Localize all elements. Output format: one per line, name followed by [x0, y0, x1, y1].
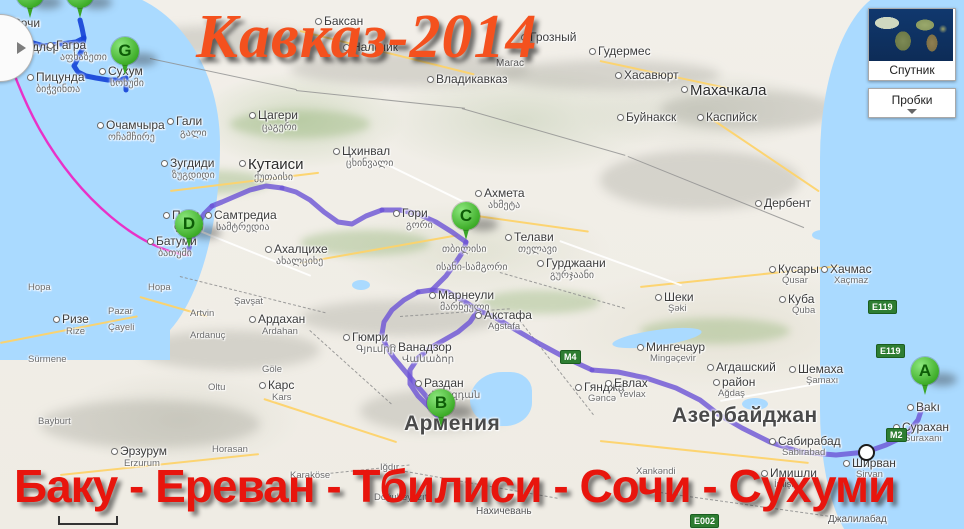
place-dot-icon: [427, 76, 434, 83]
scale-bar: [58, 516, 118, 525]
place-dot-icon: [907, 404, 914, 411]
place-dot-icon: [475, 312, 482, 319]
route-shirvan-west: [718, 414, 866, 455]
marker-letter: C: [452, 202, 480, 230]
place-dot-icon: [147, 238, 154, 245]
satellite-toggle-button[interactable]: Спутник: [868, 8, 956, 81]
place-dot-icon: [707, 364, 714, 371]
route-marneuli-vanadzor: [382, 292, 418, 346]
place-dot-icon: [205, 212, 212, 219]
place-dot-icon: [53, 316, 60, 323]
map-marker-g[interactable]: G: [111, 37, 139, 77]
place-dot-icon: [239, 160, 246, 167]
place-dot-icon: [655, 294, 662, 301]
place-dot-icon: [769, 266, 776, 273]
marker-letter: G: [111, 37, 139, 65]
chevron-down-icon[interactable]: [907, 109, 917, 114]
place-dot-icon: [537, 260, 544, 267]
road-shield: M4: [560, 350, 581, 364]
marker-letter: A: [911, 357, 939, 385]
place-dot-icon: [605, 380, 612, 387]
route-gagra-north: [80, 20, 84, 38]
place-dot-icon: [637, 344, 644, 351]
overlay-caption: Баку - Ереван - Тбилиси - Сочи - Сухуми: [14, 459, 895, 513]
place-dot-icon: [47, 42, 54, 49]
marker-letter: B: [427, 389, 455, 417]
place-dot-icon: [259, 382, 266, 389]
place-dot-icon: [755, 200, 762, 207]
place-dot-icon: [617, 114, 624, 121]
satellite-thumbnail-icon: [869, 9, 953, 61]
route-az-central: [592, 370, 718, 414]
map-marker-b[interactable]: B: [427, 389, 455, 429]
place-dot-icon: [249, 112, 256, 119]
road-shield: M2: [886, 428, 907, 442]
place-dot-icon: [575, 384, 582, 391]
route-kutaisi-samtredia: [212, 186, 282, 206]
map-marker-h[interactable]: H: [16, 0, 44, 20]
marker-letter: D: [175, 210, 203, 238]
map-marker-a[interactable]: A: [911, 357, 939, 397]
place-dot-icon: [163, 212, 170, 219]
map-marker-f[interactable]: F: [66, 0, 94, 20]
place-dot-icon: [429, 292, 436, 299]
traffic-label: Пробки: [869, 89, 955, 107]
road-shield: E119: [868, 300, 897, 314]
route-adler-gagra: [30, 38, 84, 46]
place-dot-icon: [779, 296, 786, 303]
place-dot-icon: [821, 266, 828, 273]
marker-letter: F: [66, 0, 94, 8]
place-dot-icon: [589, 48, 596, 55]
place-dot-icon: [475, 190, 482, 197]
place-dot-icon: [681, 86, 688, 93]
place-dot-icon: [415, 380, 422, 387]
place-dot-icon: [789, 366, 796, 373]
place-dot-icon: [713, 379, 720, 386]
pan-right-icon[interactable]: [17, 42, 26, 54]
map-marker-c[interactable]: C: [452, 202, 480, 242]
traffic-menu-button[interactable]: Пробки: [868, 88, 956, 118]
place-dot-icon: [265, 246, 272, 253]
map-marker-d[interactable]: D: [175, 210, 203, 250]
marker-letter: H: [16, 0, 44, 8]
place-dot-icon: [167, 118, 174, 125]
route-marneuli-tbilisi: [432, 242, 466, 290]
route-layer: [0, 0, 964, 529]
route-gori-kutaisi: [282, 188, 382, 224]
road-shield: E002: [690, 514, 719, 528]
overlay-title: Кавказ-2014: [196, 2, 537, 73]
place-dot-icon: [249, 316, 256, 323]
road-shield: E119: [876, 344, 905, 358]
place-dot-icon: [769, 438, 776, 445]
place-dot-icon: [161, 160, 168, 167]
map-canvas[interactable]: АдлерСочиГаграაფხაზეთიПицундаბიჭვინთაСух…: [0, 0, 964, 529]
place-dot-icon: [333, 148, 340, 155]
place-dot-icon: [697, 114, 704, 121]
satellite-label: Спутник: [869, 61, 955, 80]
place-dot-icon: [111, 448, 118, 455]
place-dot-icon: [615, 72, 622, 79]
place-dot-icon: [99, 68, 106, 75]
place-dot-icon: [343, 334, 350, 341]
place-dot-icon: [27, 74, 34, 81]
route-agstafa-marneuli: [418, 290, 478, 310]
place-dot-icon: [505, 234, 512, 241]
place-dot-icon: [389, 344, 396, 351]
place-dot-icon: [393, 210, 400, 217]
place-dot-icon: [97, 122, 104, 129]
